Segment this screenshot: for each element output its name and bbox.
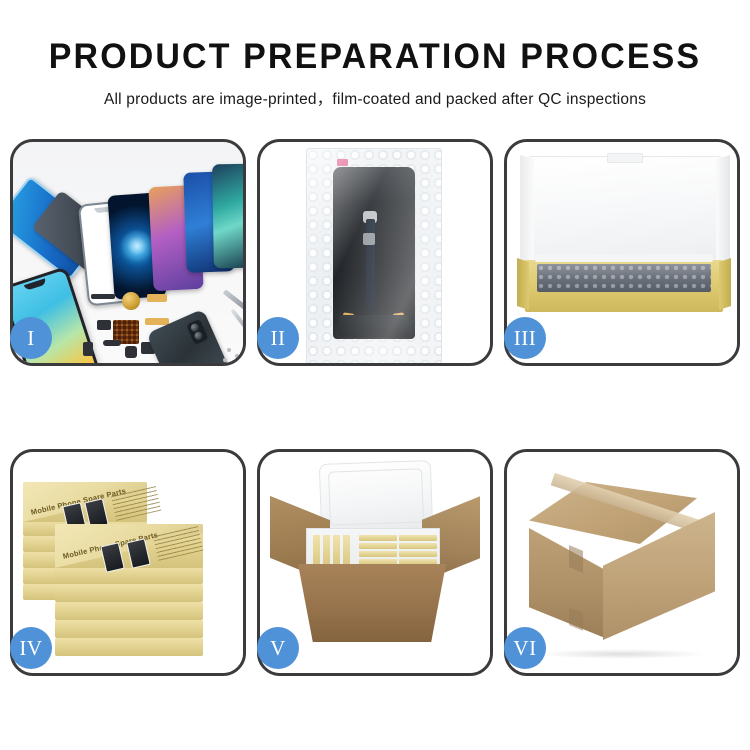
carton-body <box>298 564 446 642</box>
foam-lid <box>319 460 433 534</box>
connector <box>363 233 375 245</box>
connector-part <box>97 320 111 330</box>
yellow-box <box>359 551 397 557</box>
box-side-flap <box>517 258 529 310</box>
yellow-box <box>359 543 397 549</box>
carton-shadow <box>537 649 707 659</box>
white-box-lid <box>529 156 721 266</box>
bubble-wrap-bag <box>306 148 442 363</box>
screw <box>227 348 231 352</box>
lid-tab <box>607 153 643 163</box>
header: PRODUCT PREPARATION PROCESS All products… <box>0 0 750 109</box>
small-component <box>83 342 93 356</box>
phone-screen-teal <box>212 164 243 269</box>
step-badge-1: I <box>10 317 52 359</box>
camera-part <box>125 346 137 358</box>
vibration-motor-part <box>122 292 140 310</box>
camera-module <box>186 319 209 345</box>
product-preparation-infographic: PRODUCT PREPARATION PROCESS All products… <box>0 0 750 750</box>
pink-label <box>337 159 348 166</box>
yellow-box <box>399 551 437 557</box>
step-badge-3: III <box>504 317 546 359</box>
foam-sheet <box>535 254 713 262</box>
carton-left-face <box>529 528 605 638</box>
stacked-box <box>55 566 203 584</box>
stacked-box <box>55 638 203 656</box>
page-subtitle: All products are image-printed，film-coat… <box>0 77 750 109</box>
yellow-box <box>359 535 397 541</box>
step-badge-2: II <box>257 317 299 359</box>
yellow-box <box>333 535 340 567</box>
screw <box>223 358 227 362</box>
stacked-box <box>55 584 203 602</box>
process-step-1: I <box>10 139 246 366</box>
notch <box>24 278 47 291</box>
process-step-grid: I II <box>10 139 740 739</box>
yellow-box-tray <box>525 260 723 312</box>
process-step-6: VI <box>504 449 740 676</box>
process-step-5: V <box>257 449 493 676</box>
flex-cable-part <box>147 294 167 302</box>
step-badge-6: VI <box>504 627 546 669</box>
speaker-part <box>91 294 115 299</box>
yellow-box <box>323 535 330 567</box>
yellow-box <box>343 535 350 567</box>
process-step-3: III <box>504 139 740 366</box>
bubble-wrapped-contents <box>537 264 711 292</box>
screw <box>235 354 239 358</box>
step-badge-4: IV <box>10 627 52 669</box>
stacked-box <box>55 602 203 620</box>
process-step-2: II <box>257 139 493 366</box>
lcd-screen-assembly <box>333 167 415 339</box>
yellow-box <box>313 535 320 567</box>
box-stack: Mobile Phone Spare Parts Mobile Phone Sp… <box>19 474 241 664</box>
stacked-box <box>55 620 203 638</box>
step-badge-5: V <box>257 627 299 669</box>
button-part <box>103 340 121 346</box>
process-step-4: Mobile Phone Spare Parts Mobile Phone Sp… <box>10 449 246 676</box>
screen-base <box>339 315 409 337</box>
page-title: PRODUCT PREPARATION PROCESS <box>11 0 739 77</box>
box-side-flap <box>719 258 731 310</box>
yellow-box <box>399 535 437 541</box>
yellow-box <box>399 543 437 549</box>
